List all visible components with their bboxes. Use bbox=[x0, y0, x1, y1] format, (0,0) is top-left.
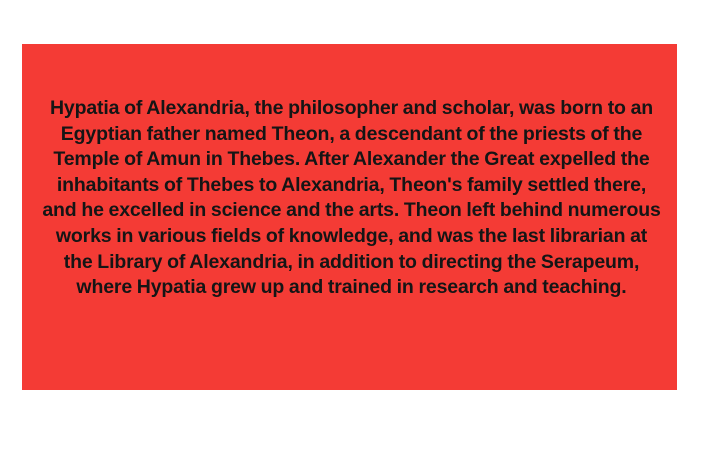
paragraph-container: Hypatia of Alexandria, the philosopher a… bbox=[22, 44, 677, 301]
body-paragraph: Hypatia of Alexandria, the philosopher a… bbox=[42, 96, 661, 301]
document-canvas: Hypatia of Alexandria, the philosopher a… bbox=[0, 0, 720, 473]
red-text-panel: Hypatia of Alexandria, the philosopher a… bbox=[22, 44, 677, 390]
